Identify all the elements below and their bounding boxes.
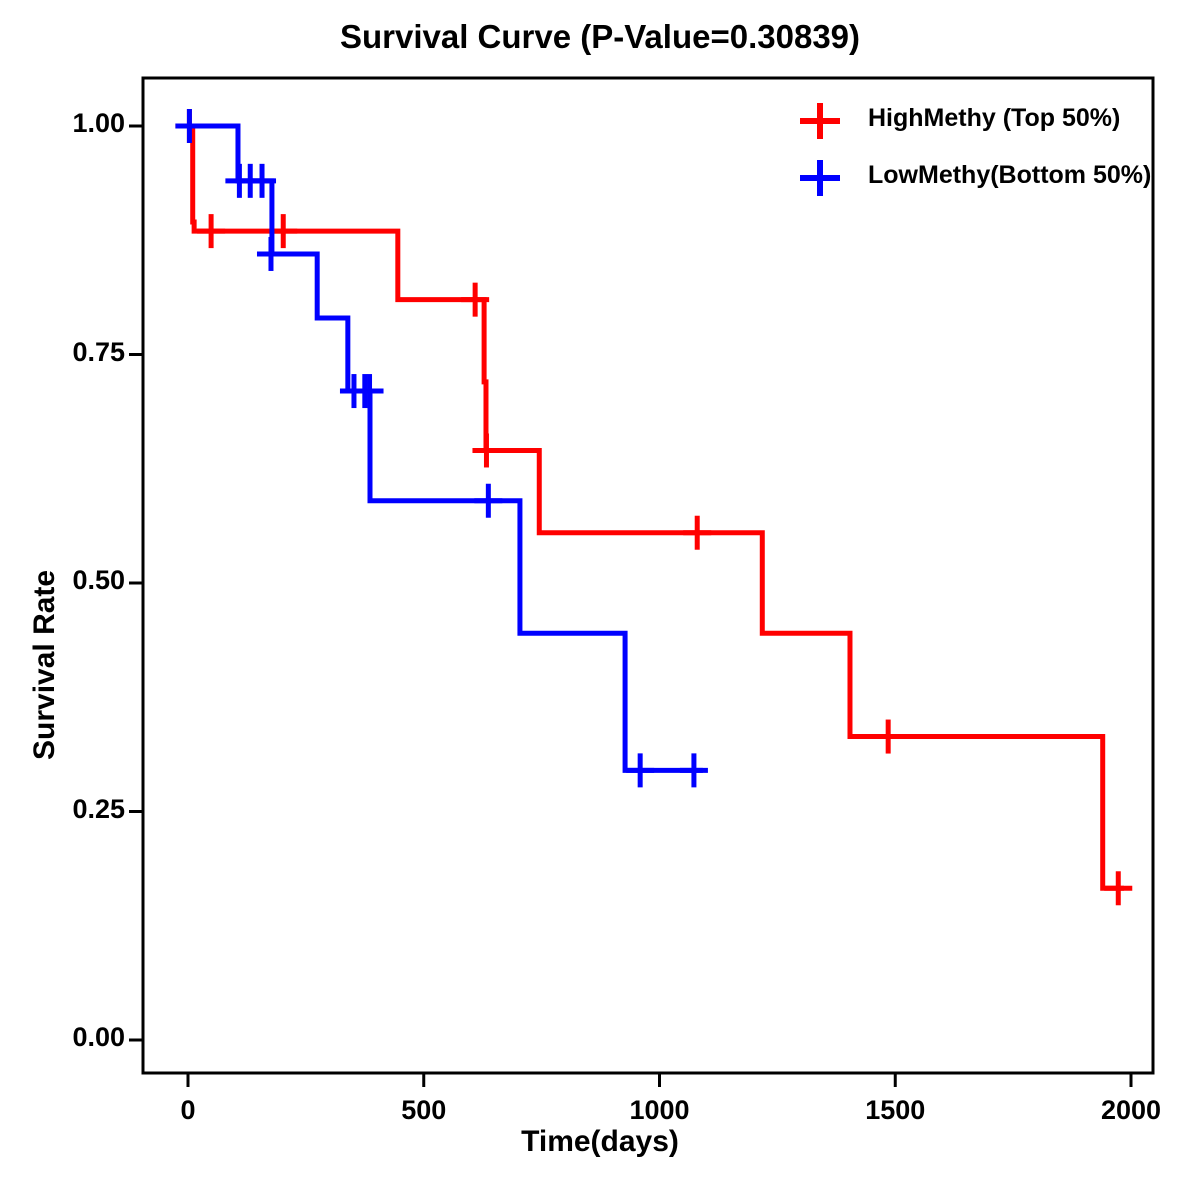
y-tick-label: 0.50 [15, 565, 125, 596]
censor-mark [683, 516, 711, 550]
legend-marker-1 [800, 160, 840, 196]
survival-chart-page: Survival Curve (P-Value=0.30839) Surviva… [0, 0, 1200, 1200]
series-line-1 [188, 126, 703, 770]
y-axis-label: Survival Rate [28, 570, 62, 760]
legend-marker-0 [800, 103, 840, 139]
censor-mark [680, 753, 708, 787]
y-tick-label: 1.00 [15, 108, 125, 139]
legend-label-0: HighMethy (Top 50%) [868, 104, 1120, 133]
x-tick-label: 1500 [835, 1095, 955, 1126]
x-tick-label: 1000 [600, 1095, 720, 1126]
y-tick-label: 0.25 [15, 794, 125, 825]
censor-mark [356, 374, 384, 408]
y-tick-label: 0.00 [15, 1022, 125, 1053]
y-tick-label: 0.75 [15, 337, 125, 368]
x-tick-label: 2000 [1071, 1095, 1191, 1126]
censor-mark [474, 484, 502, 518]
censor-mark [197, 214, 225, 248]
plot-frame [143, 78, 1153, 1073]
censor-mark [874, 720, 902, 754]
censor-mark [1104, 871, 1132, 905]
x-tick-label: 0 [128, 1095, 248, 1126]
legend-label-1: LowMethy(Bottom 50%) [868, 161, 1151, 190]
censor-mark [175, 109, 203, 143]
x-axis-label: Time(days) [0, 1125, 1200, 1159]
series-line-0 [188, 126, 1124, 888]
censor-mark [472, 433, 500, 467]
x-tick-label: 500 [364, 1095, 484, 1126]
censor-mark [626, 753, 654, 787]
